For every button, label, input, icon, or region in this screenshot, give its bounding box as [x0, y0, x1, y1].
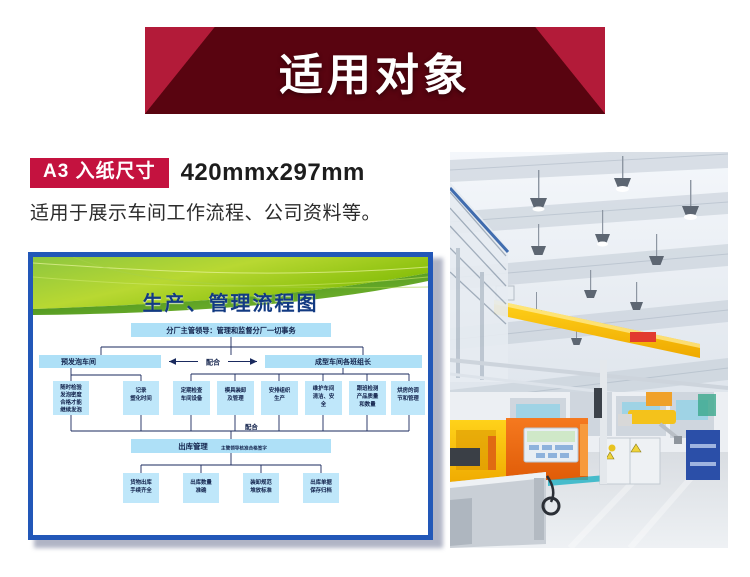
- svg-text:堆放标准: 堆放标准: [250, 486, 272, 494]
- svg-text:保存归档: 保存归档: [309, 486, 332, 494]
- paper-size-value: 420mmx297mm: [181, 159, 365, 187]
- svg-text:合格才能: 合格才能: [60, 398, 82, 406]
- poster-title: 生产、管理流程图: [33, 287, 428, 316]
- svg-text:烘房的调: 烘房的调: [397, 386, 419, 394]
- svg-text:准确: 准确: [196, 486, 207, 494]
- svg-text:成型车间各班组长: 成型车间各班组长: [315, 357, 372, 366]
- svg-text:继续发泡: 继续发泡: [60, 406, 82, 414]
- svg-text:货物出库: 货物出库: [130, 478, 152, 486]
- poster-preview: 生产、管理流程图 分厂主管领导：管理和监督分厂一切事务 预发泡车间 成型车间各班…: [28, 252, 443, 548]
- svg-text:生产: 生产: [274, 394, 285, 402]
- svg-text:车间设备: 车间设备: [181, 394, 203, 402]
- svg-text:出库管理: 出库管理: [178, 442, 208, 451]
- banner-title: 适用对象: [145, 27, 605, 114]
- svg-text:随时检验: 随时检验: [60, 383, 82, 391]
- poster-frame: 生产、管理流程图 分厂主管领导：管理和监督分厂一切事务 预发泡车间 成型车间各班…: [28, 252, 433, 540]
- paper-size-badge: A3 入纸尺寸: [30, 158, 169, 188]
- svg-text:装卸规范: 装卸规范: [249, 478, 272, 486]
- svg-text:手续齐全: 手续齐全: [130, 486, 152, 494]
- svg-text:维护车间: 维护车间: [313, 384, 335, 392]
- svg-text:出库单据: 出库单据: [310, 478, 332, 486]
- factory-photo-illustration: [450, 152, 728, 548]
- svg-text:配合: 配合: [206, 358, 221, 367]
- poster-canvas: 生产、管理流程图 分厂主管领导：管理和监督分厂一切事务 预发泡车间 成型车间各班…: [33, 257, 428, 535]
- svg-text:清洁、安: 清洁、安: [313, 392, 335, 400]
- svg-text:安排组织: 安排组织: [269, 386, 291, 394]
- svg-text:产品质量: 产品质量: [357, 392, 379, 400]
- page-banner: 适用对象: [145, 27, 605, 114]
- svg-text:预发泡车间: 预发泡车间: [61, 357, 96, 366]
- svg-text:分厂主管领导：管理和监督分厂一切事务: 分厂主管领导：管理和监督分厂一切事务: [166, 326, 296, 335]
- svg-text:及管理: 及管理: [227, 394, 244, 402]
- svg-text:全: 全: [320, 400, 327, 408]
- svg-text:出库数量: 出库数量: [190, 478, 212, 486]
- svg-text:节和管理: 节和管理: [397, 394, 419, 402]
- factory-photo: [450, 152, 728, 548]
- svg-text:定期检查: 定期检查: [181, 386, 203, 394]
- svg-text:记录: 记录: [136, 386, 147, 394]
- svg-text:配合: 配合: [245, 422, 258, 431]
- svg-text:模具装卸: 模具装卸: [225, 386, 247, 394]
- usage-description: 适用于展示车间工作流程、公司资料等。: [30, 198, 381, 225]
- svg-text:塑化时间: 塑化时间: [130, 394, 152, 402]
- svg-text:跟班检测: 跟班检测: [357, 384, 379, 392]
- svg-text:发泡密度: 发泡密度: [59, 391, 82, 399]
- svg-text:主管领导核准合格签字: 主管领导核准合格签字: [221, 445, 267, 452]
- paper-size-row: A3 入纸尺寸 420mmx297mm: [30, 158, 365, 188]
- flowchart: 分厂主管领导：管理和监督分厂一切事务 预发泡车间 成型车间各班组长 配合: [33, 319, 428, 535]
- svg-text:和数量: 和数量: [358, 400, 376, 408]
